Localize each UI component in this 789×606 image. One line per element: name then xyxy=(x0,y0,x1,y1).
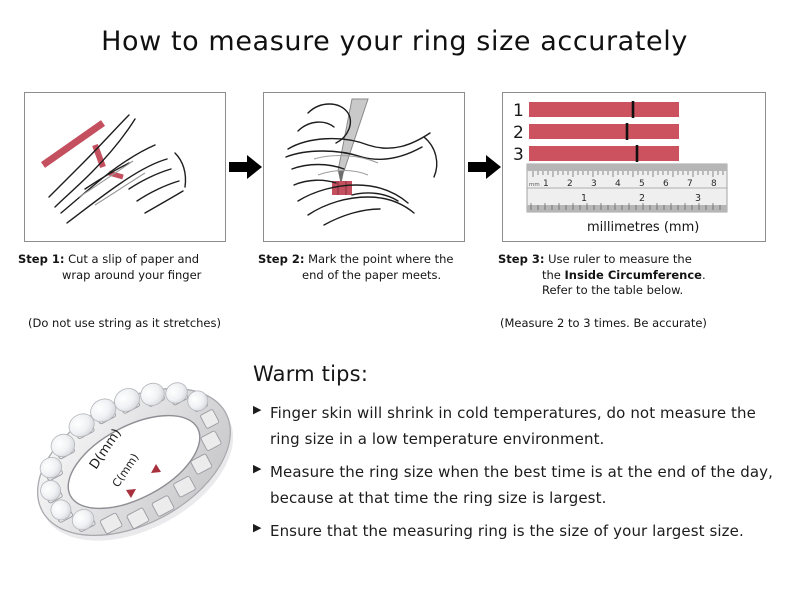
tip-item: ▶ Measure the ring size when the best ti… xyxy=(253,459,773,511)
step-3-lead: Step 3: xyxy=(498,252,544,266)
step-1-caption-line2: wrap around your finger xyxy=(18,268,256,284)
step-3-inside-circumference-emphasis: Inside Circumference xyxy=(565,268,702,282)
step-3-caption-line2: the Inside Circumference. xyxy=(498,268,778,284)
step-2-caption-line2: end of the paper meets. xyxy=(258,268,496,284)
step-1-caption: Step 1: Cut a slip of paper and wrap aro… xyxy=(18,252,256,283)
steps-row: 1 2 3 xyxy=(0,92,789,244)
ruler-icon: 1 2 3 4 5 6 7 8 mm 1 2 3 xyxy=(527,164,727,212)
tip-text-3: Ensure that the measuring ring is the si… xyxy=(270,518,773,544)
step-3-illustration-panel: 1 2 3 xyxy=(502,92,766,242)
step-2-caption: Step 2: Mark the point where the end of … xyxy=(258,252,496,283)
ruler-cm-tick-8: 8 xyxy=(711,179,717,189)
step-1-illustration-panel xyxy=(24,92,226,242)
strip-label-1: 1 xyxy=(513,101,524,121)
arrow-step2-to-step3-icon xyxy=(468,154,502,180)
measure-strip-2 xyxy=(529,124,679,139)
hand-with-paper-strip-drawing xyxy=(25,93,225,241)
ruler-cm-tick-2: 2 xyxy=(567,179,573,189)
warm-tips-section: Warm tips: ▶ Finger skin will shrink in … xyxy=(253,362,773,551)
bullet-triangle-icon: ▶ xyxy=(253,459,270,474)
pen-icon xyxy=(338,99,368,185)
step-1-lead: Step 1: xyxy=(18,252,64,266)
tip-item: ▶ Finger skin will shrink in cold temper… xyxy=(253,400,773,452)
paper-slip-red-icon xyxy=(43,123,123,177)
arrow-step1-to-step2-icon xyxy=(229,154,263,180)
strip-label-3: 3 xyxy=(513,145,524,165)
strip-label-2: 2 xyxy=(513,123,524,143)
tip-text-2: Measure the ring size when the best time… xyxy=(270,459,773,511)
step-3-note: (Measure 2 to 3 times. Be accurate) xyxy=(500,316,780,331)
step-2-caption-line1: Mark the point where the xyxy=(308,252,453,266)
bullet-triangle-icon: ▶ xyxy=(253,518,270,533)
step-2-illustration-panel xyxy=(263,92,465,242)
tip-text-1: Finger skin will shrink in cold temperat… xyxy=(270,400,773,452)
marking-paper-with-pen-drawing xyxy=(264,93,464,241)
step-3-caption-line3: Refer to the table below. xyxy=(498,283,778,299)
step-3-caption-line1: Use ruler to measure the xyxy=(548,252,692,266)
ruler-cm-tick-5: 5 xyxy=(639,179,645,189)
ring-diameter-circumference-figure: D(mm) C(mm) xyxy=(18,352,250,580)
step-1-caption-line1: Cut a slip of paper and xyxy=(68,252,199,266)
ruler-cm-tick-1: 1 xyxy=(543,179,549,189)
ruler-inch-tick-1: 1 xyxy=(581,193,587,204)
step-3-caption: Step 3: Use ruler to measure the the Ins… xyxy=(498,252,778,299)
ruler-unit-mark: mm xyxy=(529,182,540,188)
warm-tips-heading: Warm tips: xyxy=(253,362,773,386)
step-1-note: (Do not use string as it stretches) xyxy=(28,316,274,331)
step-3-line2-pre: the xyxy=(542,268,565,282)
measure-strip-1 xyxy=(529,102,679,117)
ruler-unit-caption: millimetres (mm) xyxy=(587,220,699,235)
tip-item: ▶ Ensure that the measuring ring is the … xyxy=(253,518,773,544)
ruler-cm-tick-4: 4 xyxy=(615,179,621,189)
ruler-and-strips-diagram: 1 2 3 xyxy=(503,93,765,241)
page-title: How to measure your ring size accurately xyxy=(0,26,789,57)
step-2-lead: Step 2: xyxy=(258,252,304,266)
step-3-line2-post: . xyxy=(702,268,706,282)
measure-strip-3 xyxy=(529,146,679,161)
ruler-inch-tick-3: 3 xyxy=(695,193,701,204)
bullet-triangle-icon: ▶ xyxy=(253,400,270,415)
ruler-cm-tick-6: 6 xyxy=(663,179,669,189)
ruler-inch-tick-2: 2 xyxy=(639,193,645,204)
ruler-cm-tick-7: 7 xyxy=(687,179,693,189)
ruler-cm-tick-3: 3 xyxy=(591,179,597,189)
